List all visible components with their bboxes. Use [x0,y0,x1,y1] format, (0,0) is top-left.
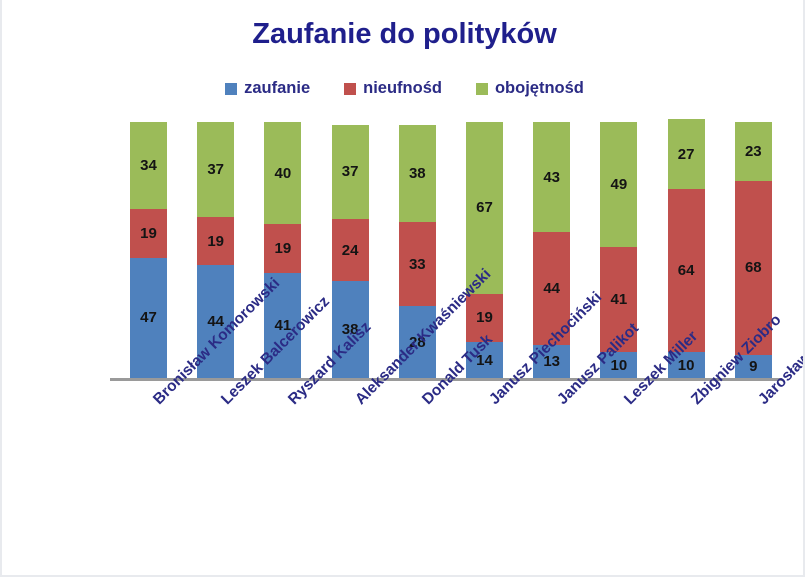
legend-swatch-icon [476,83,488,95]
bar-value-label: 67 [476,200,493,215]
bar-segment[interactable]: 33 [399,222,436,306]
bar-value-label: 19 [140,226,157,241]
bar-segment[interactable]: 27 [668,119,705,188]
bar-value-label: 37 [207,162,224,177]
legend-item-obojetnosc[interactable]: obojętnośd [476,79,584,98]
chart-title: Zaufanie do polityków [2,18,805,51]
bar-column[interactable]: 341947 [130,122,167,378]
bar-segment[interactable]: 43 [533,122,570,232]
bar-segment[interactable]: 34 [130,122,167,209]
bar-segment[interactable]: 19 [197,217,234,266]
legend-item-nieufnosc[interactable]: nieufnośd [344,79,442,98]
bar-value-label: 24 [342,243,359,258]
bar-value-label: 38 [409,166,426,181]
chart-legend: zaufanie nieufnośd obojętnośd [2,79,805,98]
bar-segment[interactable]: 47 [130,258,167,378]
bar-segment[interactable]: 19 [264,224,301,273]
legend-swatch-icon [344,83,356,95]
chart-container: Zaufanie do polityków zaufanie nieufnośd… [0,0,805,577]
legend-swatch-icon [225,83,237,95]
bar-value-label: 68 [745,260,762,275]
category-axis-labels: Bronisław KomorowskiLeszek BalcerowiczRy… [2,378,805,577]
bar-value-label: 44 [543,281,560,296]
legend-item-zaufanie[interactable]: zaufanie [225,79,310,98]
bar-value-label: 40 [275,166,292,181]
bar-segment[interactable]: 38 [399,125,436,222]
bar-value-label: 33 [409,257,426,272]
bar-value-label: 23 [745,144,762,159]
bar-value-label: 47 [140,310,157,325]
bar-value-label: 37 [342,164,359,179]
bar-value-label: 41 [611,292,628,307]
bar-segment[interactable]: 19 [130,209,167,258]
bar-value-label: 34 [140,158,157,173]
bar-segment[interactable]: 49 [600,122,637,247]
bar-value-label: 19 [207,234,224,249]
bar-segment[interactable]: 37 [197,122,234,217]
bar-value-label: 27 [678,147,695,162]
bar-value-label: 49 [611,177,628,192]
bar-value-label: 43 [543,170,560,185]
bar-segment[interactable]: 24 [332,219,369,280]
legend-label: nieufnośd [363,79,442,98]
legend-label: obojętnośd [495,79,584,98]
bar-value-label: 19 [476,310,493,325]
bar-value-label: 9 [749,359,757,374]
bar-value-label: 64 [678,263,695,278]
bar-segment[interactable]: 40 [264,122,301,224]
bar-segment[interactable]: 64 [668,189,705,353]
legend-label: zaufanie [244,79,310,98]
bar-segment[interactable]: 23 [735,122,772,181]
bar-value-label: 19 [275,241,292,256]
bar-segment[interactable]: 37 [332,125,369,220]
